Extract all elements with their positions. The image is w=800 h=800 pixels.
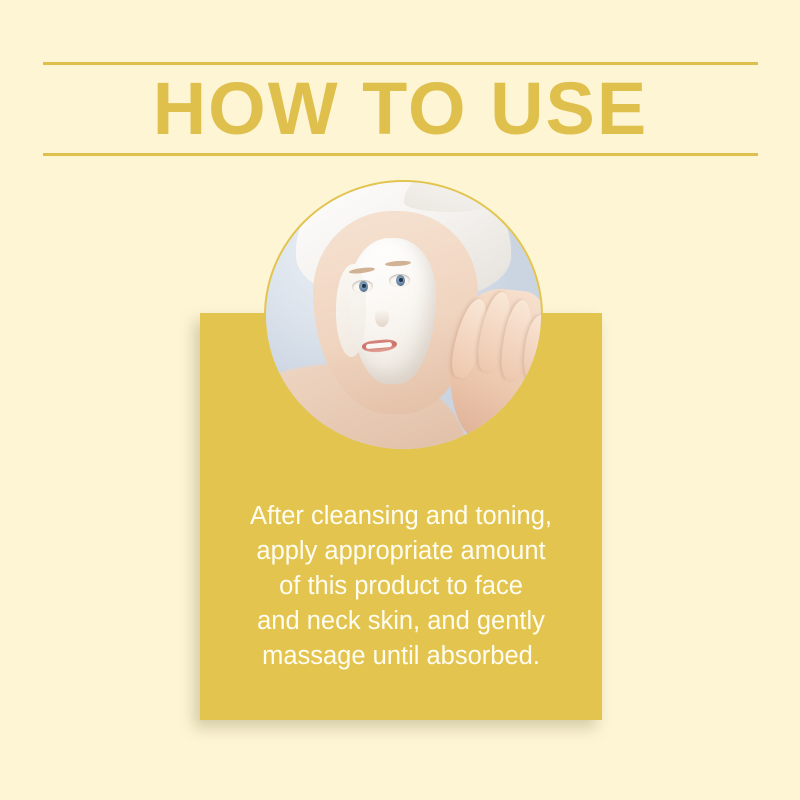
header-block: HOW TO USE — [43, 62, 758, 156]
how-to-use-poster: HOW TO USE After cleansing and toning, a… — [0, 0, 800, 800]
photo-towel-edge — [404, 182, 498, 212]
photo-nose — [375, 309, 388, 327]
photo-face-mask-side — [336, 264, 366, 357]
avatar — [264, 180, 543, 451]
title-rule-bottom-icon — [43, 153, 758, 156]
instruction-text: After cleansing and toning, apply approp… — [218, 499, 584, 674]
photo-iris-left — [359, 281, 369, 293]
photo-teeth — [366, 342, 392, 349]
page-title: HOW TO USE — [43, 62, 758, 156]
photo-iris-right — [396, 275, 406, 287]
photo-inner — [266, 182, 541, 449]
